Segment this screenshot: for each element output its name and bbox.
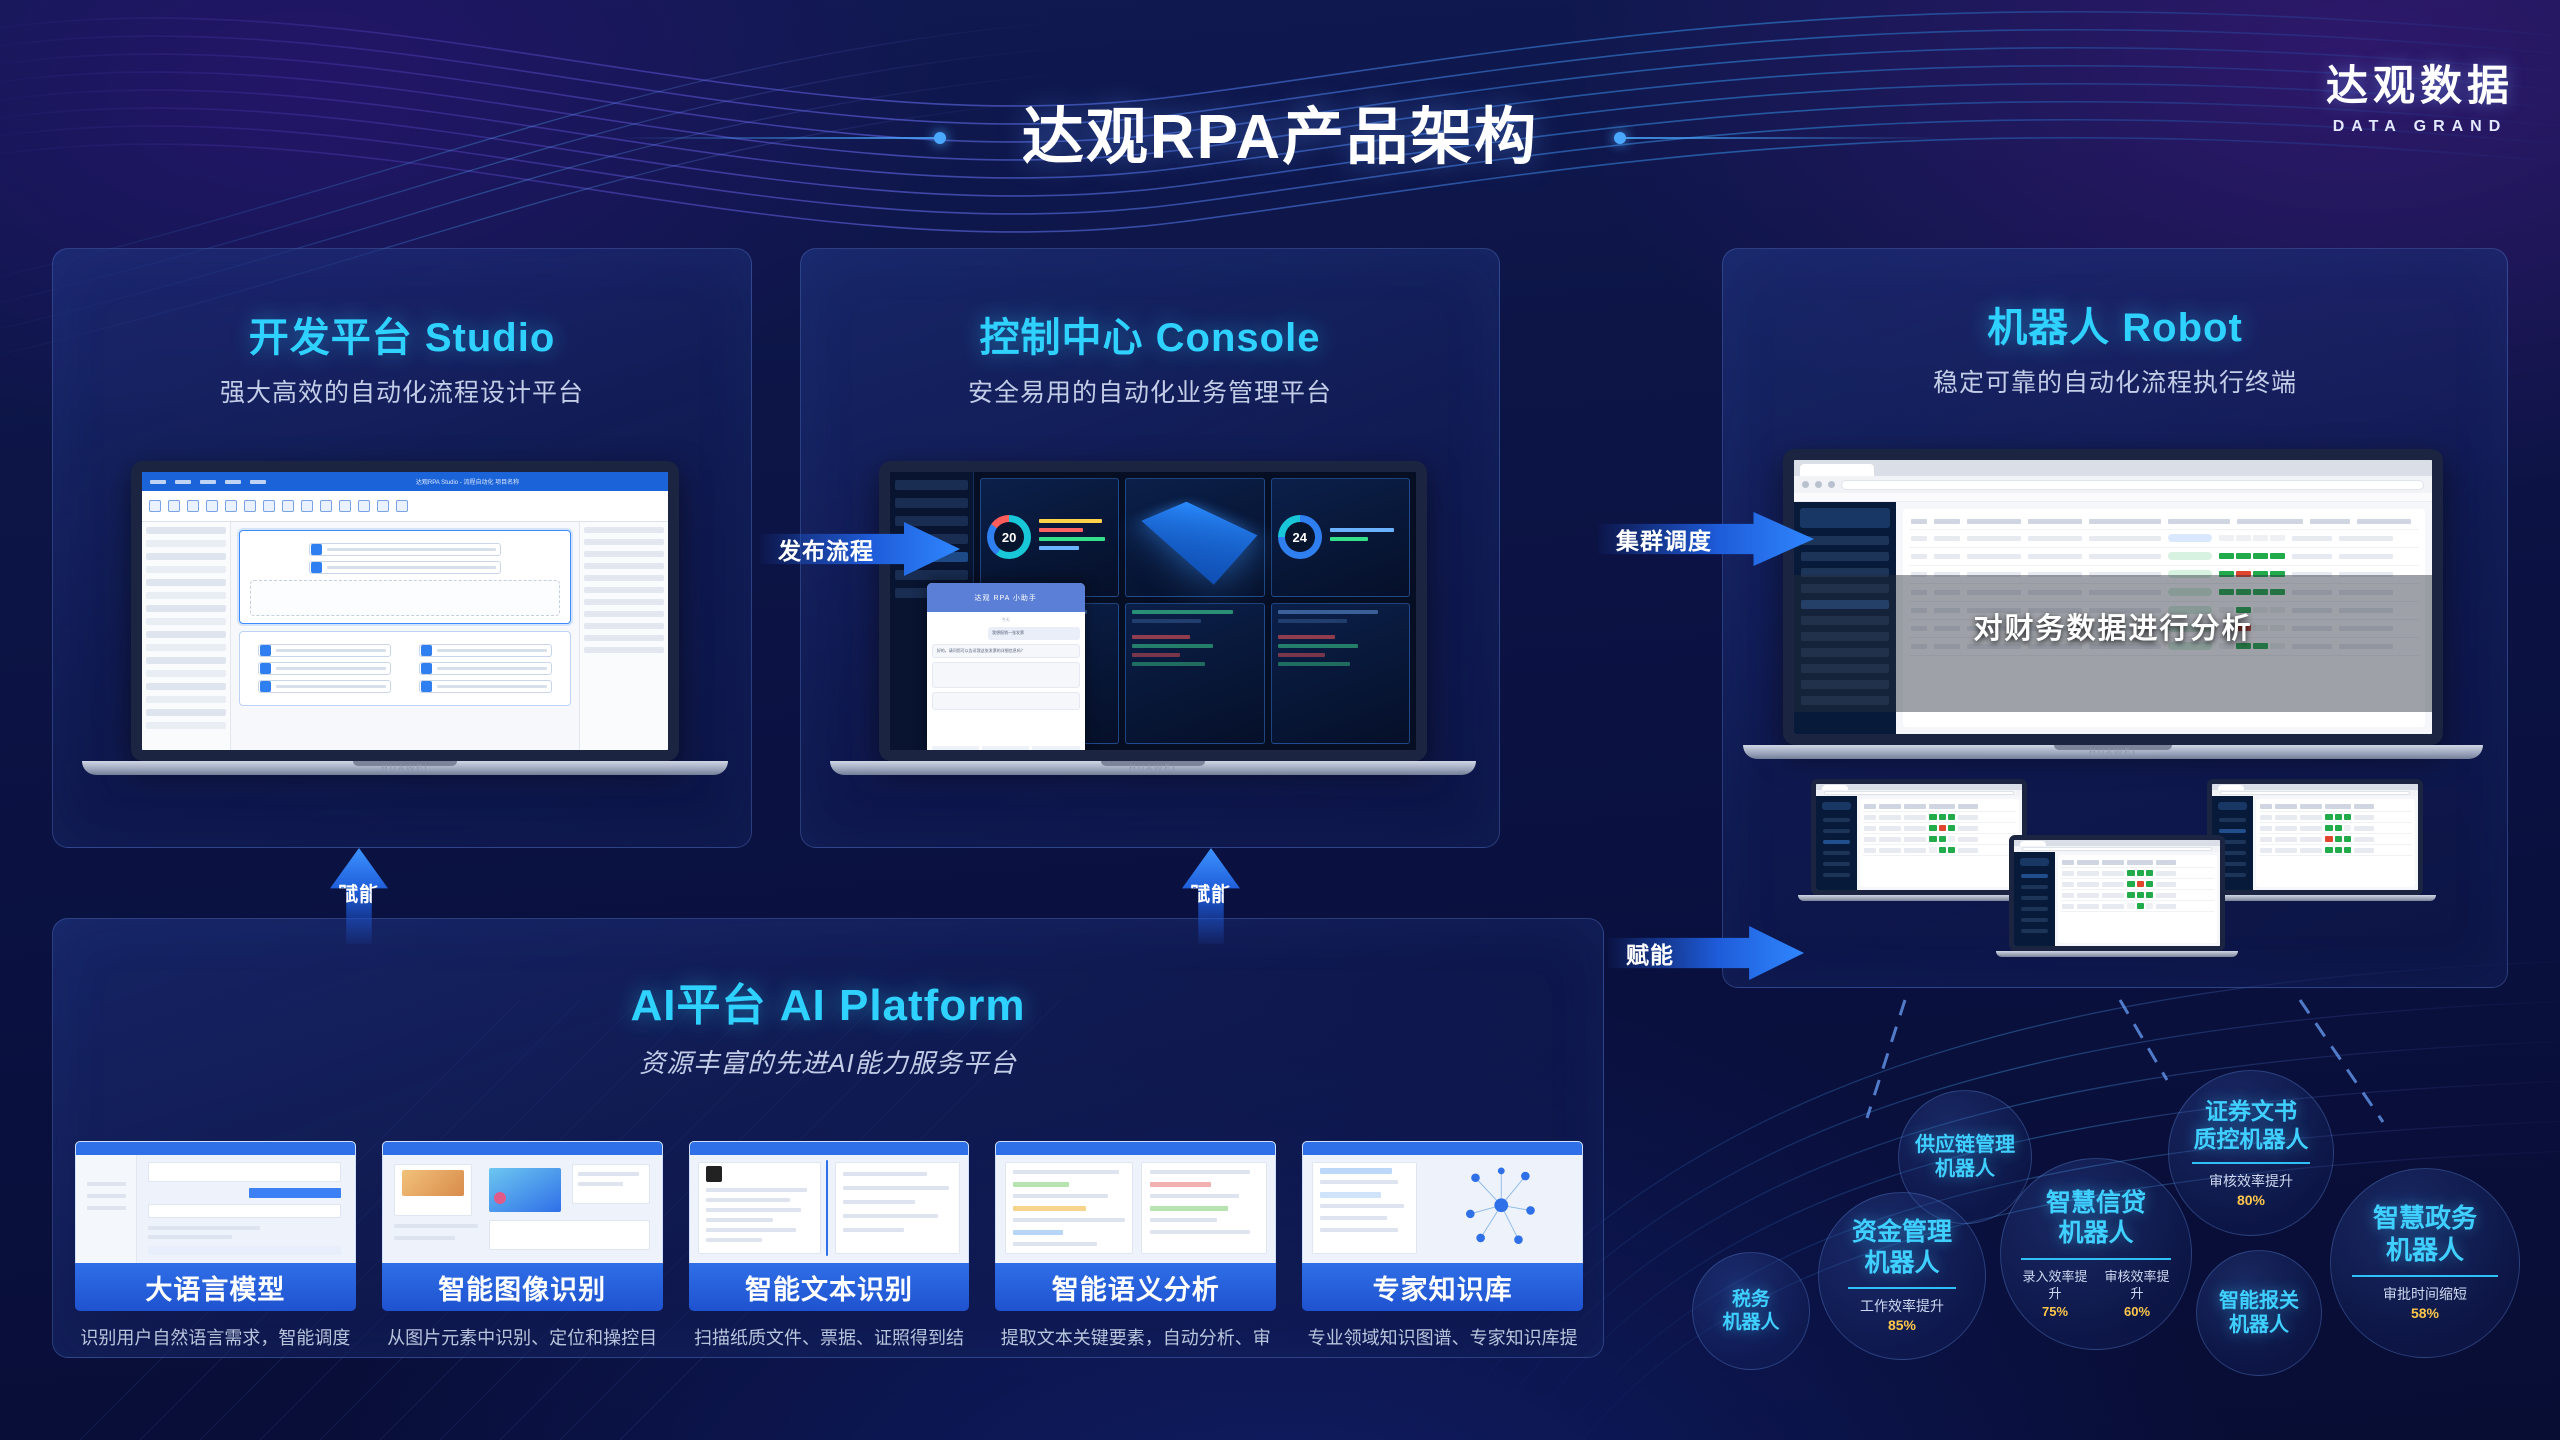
console-chat-assistant[interactable]: 达观 RPA 小助手 今天 我想报销一张发票 好的，请问您可以告诉我这张发票的详… [927,583,1085,755]
studio-laptop-mock: 达观RPA Studio - 流程自动化 项目名称 [131,461,679,775]
panel-studio[interactable]: 开发平台 Studio 强大高效的自动化流程设计平台 达观RPA Studio … [52,248,752,848]
ai-card-label: 大语言模型 [75,1263,356,1311]
ai-card-label: 智能语义分析 [995,1263,1276,1311]
bubble-tax-robot[interactable]: 税务 机器人 [1692,1252,1810,1370]
bubble-stat-label: 录入效率提升 [2022,1269,2087,1302]
bubble-stat-label: 审批时间缩短 [2383,1286,2467,1302]
robot-laptop-small-center [2009,835,2225,957]
ai-card-desc: 提取文本关键要素，自动分析、审核、比对和修订 [995,1324,1276,1358]
robot-laptop-main: 对财务数据进行分析 HUAWEI [1783,449,2443,759]
bubble-government-robot[interactable]: 智慧政务 机器人 审批时间缩短 58% [2330,1168,2520,1358]
browser-infobar [1794,493,2432,502]
chat-quick-actions[interactable] [932,746,1080,753]
brand-logo-cn: 达观数据 [2326,52,2514,113]
bubble-name: 资金管理 机器人 [1852,1217,1952,1278]
panel-ai-subtitle: 资源丰富的先进AI能力服务平台 [53,1043,1603,1080]
ai-card-label: 智能图像识别 [382,1263,663,1311]
bubble-stat-value: 58% [2411,1305,2439,1321]
panel-ai-title: AI平台 AI Platform [53,969,1603,1033]
page-title: 达观RPA产品架构 [0,86,2560,176]
console-gauge-right-value: 24 [1278,515,1322,559]
new-tab-icon[interactable] [1877,466,1889,476]
bubble-securities-qc-robot[interactable]: 证券文书 质控机器人 审核效率提升 80% [2168,1070,2334,1236]
ai-card-image-recognition[interactable]: 智能图像识别 从图片元素中识别、定位和操控目标元素 [382,1141,663,1358]
ide-properties-panel[interactable] [579,522,668,750]
panel-ai-platform[interactable]: AI平台 AI Platform 资源丰富的先进AI能力服务平台 [52,918,1604,1358]
arrow-empower-studio-label: 赋能 [338,878,380,907]
bubble-name: 供应链管理 机器人 [1915,1133,2015,1182]
chat-bubble-user: 我想报销一张发票 [988,627,1080,639]
title-rule-right [1620,137,1940,139]
robot-laptop-small-left [1811,779,2027,901]
ai-card-thumbnail [689,1141,970,1263]
arrow-empower-robot-label: 赋能 [1626,936,1674,970]
arrow-cluster-schedule-label: 集群调度 [1616,522,1712,556]
table-header-row [1909,515,2419,530]
studio-ide-screen: 达观RPA Studio - 流程自动化 项目名称 [142,472,668,750]
bubble-rule [2192,1162,2310,1164]
ai-card-desc: 从图片元素中识别、定位和操控目标元素 [382,1324,663,1358]
bubble-stat: 审批时间缩短 58% [2365,1285,2485,1323]
bubble-stat: 审核效率提升 60% [2101,1268,2173,1321]
bubble-stat-value: 75% [2042,1304,2068,1319]
bubble-stat-label: 工作效率提升 [1860,1298,1944,1314]
console-laptop-mock: 20 [879,461,1427,775]
browser-tabstrip[interactable] [1794,460,2432,476]
ai-card-label: 专家知识库 [1302,1263,1583,1311]
ai-capability-cards: 大语言模型 识别用户自然语言需求，智能调度RPA [75,1141,1583,1358]
ai-card-label: 智能文本识别 [689,1263,970,1311]
bubble-stat: 工作效率提升 85% [1856,1297,1948,1335]
panel-robot-subtitle: 稳定可靠的自动化流程执行终端 [1723,363,2507,399]
bubble-rule [2352,1275,2498,1277]
bubble-stat-label: 审核效率提升 [2104,1269,2169,1302]
console-dashboard-screen: 20 [890,472,1416,750]
browser-urlbar[interactable] [1794,476,2432,492]
ai-card-desc: 专业领域知识图谱、专家知识库提供分析决策依据 [1302,1324,1583,1358]
ide-flow-canvas[interactable] [231,522,578,750]
panel-console-subtitle: 安全易用的自动化业务管理平台 [801,373,1499,409]
bubble-stat-value: 85% [1888,1317,1916,1333]
ai-card-semantic-analysis[interactable]: 智能语义分析 提取文本关键要素，自动分析、审核、比对和修订 [995,1141,1276,1358]
flow-group-sequence[interactable] [239,530,570,624]
browser-tab[interactable] [1800,464,1874,477]
bubble-rule [1848,1287,1956,1289]
bubble-fund-management-robot[interactable]: 资金管理 机器人 工作效率提升 85% [1818,1192,1986,1360]
ide-toolbar[interactable] [142,491,668,522]
bubble-stat-label: 审核效率提升 [2209,1173,2293,1189]
bubble-customs-robot[interactable]: 智能报关 机器人 [2196,1250,2322,1376]
ai-card-desc: 识别用户自然语言需求，智能调度RPA [75,1324,356,1358]
chat-day-divider: 今天 [932,617,1080,623]
ai-card-desc: 扫描纸质文件、票据、证照得到结构化数据 [689,1324,970,1358]
bubble-name: 智慧政务 机器人 [2373,1203,2477,1266]
console-gauge-left: 20 [987,515,1031,559]
panel-studio-title: 开发平台 Studio [53,305,751,363]
bubble-stat-value: 60% [2124,1304,2150,1319]
console-robot-card[interactable] [1271,603,1410,744]
ai-card-knowledge-base[interactable]: 专家知识库 专业领域知识图谱、专家知识库提供分析决策依据 [1302,1141,1583,1358]
bubble-credit-robot[interactable]: 智慧信贷 机器人 录入效率提升 75% 审核效率提升 60% [2000,1158,2192,1350]
robot-app-logo [1800,508,1890,528]
ai-card-thumbnail [1302,1141,1583,1263]
console-gauge-right: 24 [1278,515,1322,559]
bubble-name: 智能报关 机器人 [2219,1289,2299,1338]
ai-card-thumbnail [75,1141,356,1263]
bubble-stat: 录入效率提升 75% [2019,1268,2091,1321]
console-robot-card[interactable] [1125,603,1264,744]
title-rule-left [620,137,940,139]
bubble-name: 证券文书 质控机器人 [2194,1097,2309,1153]
console-gauge-card-left: 20 [980,478,1119,597]
ide-menubar: 达观RPA Studio - 流程自动化 项目名称 [142,472,668,491]
panel-studio-subtitle: 强大高效的自动化流程设计平台 [53,373,751,409]
console-gauge-card-right: 24 [1271,478,1410,597]
flow-group-parallel[interactable] [239,631,570,706]
console-gauge-left-value: 20 [987,515,1031,559]
arrow-publish-flow-label: 发布流程 [778,532,874,566]
ai-card-text-recognition[interactable]: 智能文本识别 扫描纸质文件、票据、证照得到结构化数据 [689,1141,970,1358]
arrow-empower-console-label: 赋能 [1190,878,1232,907]
back-icon[interactable] [1802,481,1809,488]
bubble-stat: 审核效率提升 80% [2204,1172,2298,1210]
ide-titlebar-label: 达观RPA Studio - 流程自动化 项目名称 [275,477,660,486]
brand-logo-en: DATA GRAND [2326,118,2514,136]
chat-title: 达观 RPA 小助手 [927,583,1085,612]
forward-icon[interactable] [1815,481,1822,488]
robot-overlay-caption: 对财务数据进行分析 [1794,605,2432,647]
panel-console-title: 控制中心 Console [801,305,1499,363]
reload-icon[interactable] [1828,481,1835,488]
ide-activity-tree[interactable] [142,522,231,750]
table-row[interactable] [1909,548,2419,566]
table-row[interactable] [1909,530,2419,548]
bubble-name: 智慧信贷 机器人 [2046,1188,2146,1249]
bubble-rule [2021,1258,2171,1260]
bubble-stat-value: 80% [2237,1192,2265,1208]
panel-robot-title: 机器人 Robot [1723,295,2507,353]
panel-robot[interactable]: 机器人 Robot 稳定可靠的自动化流程执行终端 [1722,248,2508,988]
chat-bubble-assistant: 好的，请问您可以告诉我这张发票的详细信息吗？ [932,644,1080,658]
robot-laptop-small-right [2207,779,2423,901]
ai-card-llm[interactable]: 大语言模型 识别用户自然语言需求，智能调度RPA [75,1141,356,1358]
bubble-name: 税务 机器人 [1722,1288,1779,1334]
brand-logo: 达观数据 DATA GRAND [2326,52,2514,136]
url-input[interactable] [1841,480,2424,490]
ai-card-thumbnail [995,1141,1276,1263]
ai-card-thumbnail [382,1141,663,1263]
console-iso-card [1125,478,1264,597]
